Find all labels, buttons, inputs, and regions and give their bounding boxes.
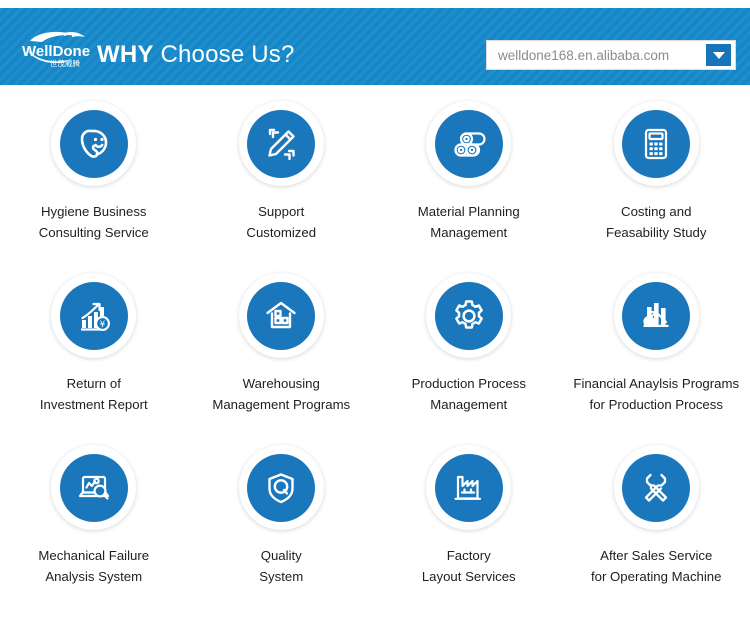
service-row: Mechanical Failure Analysis System (0, 436, 750, 608)
icon-disc (622, 454, 690, 522)
service-label: Warehousing Management Programs (210, 373, 352, 415)
icon-badge (239, 273, 324, 358)
icon-disc (622, 282, 690, 350)
icon-badge (614, 445, 699, 530)
chevron-down-icon (713, 52, 725, 59)
icon-disc (60, 110, 128, 178)
icon-disc (435, 110, 503, 178)
calculator-icon (636, 124, 676, 164)
svg-text:世茂威腾: 世茂威腾 (50, 58, 80, 68)
service-item-material-planning[interactable]: Material Planning Management (375, 92, 563, 264)
service-row: ¥ Return of Investment Report (0, 264, 750, 436)
icon-disc (435, 454, 503, 522)
icon-disc (247, 110, 315, 178)
service-label: Mechanical Failure Analysis System (36, 545, 151, 587)
gear-icon (449, 296, 489, 336)
header-banner: WellDone 世茂威腾 WHY Choose Us? welldone168… (0, 8, 750, 85)
svg-text:¥: ¥ (100, 320, 106, 330)
icon-disc (247, 454, 315, 522)
icon-badge (426, 273, 511, 358)
icon-disc (622, 110, 690, 178)
warehouse-boxes-icon (261, 296, 301, 336)
icon-badge (51, 101, 136, 186)
icon-disc (247, 282, 315, 350)
service-item-quality-system[interactable]: Quality System (188, 436, 376, 608)
service-label: Production Process Management (410, 373, 528, 415)
service-item-financial-analysis[interactable]: Financial Anaylsis Programs for Producti… (563, 264, 750, 436)
service-label: Support Customized (244, 201, 318, 243)
service-label: After Sales Service for Operating Machin… (589, 545, 723, 587)
service-label: Quality System (257, 545, 305, 587)
factory-icon (449, 468, 489, 508)
svg-text:WellDone: WellDone (22, 43, 90, 60)
chart-magnifier-icon (636, 296, 676, 336)
icon-badge (614, 101, 699, 186)
icon-disc (435, 282, 503, 350)
welldone-logo: WellDone 世茂威腾 (20, 25, 98, 71)
service-item-factory-layout[interactable]: Factory Layout Services (375, 436, 563, 608)
service-item-after-sales-service[interactable]: After Sales Service for Operating Machin… (563, 436, 750, 608)
shield-q-icon (261, 468, 301, 508)
url-field[interactable]: welldone168.en.alibaba.com (486, 40, 736, 70)
phone-smiley-icon (74, 124, 114, 164)
banner-title-bold: WHY (97, 41, 154, 68)
icon-disc-wrap (239, 445, 324, 530)
service-label: Costing and Feasability Study (604, 201, 708, 243)
banner-title: WHY Choose Us? (97, 41, 295, 69)
growth-chart-yen-icon: ¥ (74, 296, 114, 336)
service-label: Factory Layout Services (420, 545, 518, 587)
icon-disc: ¥ (60, 282, 128, 350)
service-label: Material Planning Management (416, 201, 522, 243)
icon-badge (426, 101, 511, 186)
service-item-return-of-investment[interactable]: ¥ Return of Investment Report (0, 264, 188, 436)
service-item-production-process[interactable]: Production Process Management (375, 264, 563, 436)
wrench-screwdriver-icon (636, 468, 676, 508)
service-label: Hygiene Business Consulting Service (37, 201, 151, 243)
icon-disc (60, 454, 128, 522)
laptop-search-icon (74, 468, 114, 508)
pencil-brackets-icon (261, 124, 301, 164)
icon-badge (51, 445, 136, 530)
service-item-costing-feasability[interactable]: Costing and Feasability Study (563, 92, 750, 264)
service-item-support-customized[interactable]: Support Customized (188, 92, 376, 264)
service-item-warehousing-management[interactable]: Warehousing Management Programs (188, 264, 376, 436)
service-item-mechanical-failure[interactable]: Mechanical Failure Analysis System (0, 436, 188, 608)
icon-badge (239, 101, 324, 186)
service-grid: Hygiene Business Consulting Service (0, 92, 750, 608)
url-dropdown-button[interactable] (706, 44, 731, 66)
why-choose-us-page: WellDone 世茂威腾 WHY Choose Us? welldone168… (0, 0, 750, 624)
service-label: Financial Anaylsis Programs for Producti… (571, 373, 741, 415)
icon-badge (614, 273, 699, 358)
banner-title-rest: Choose Us? (154, 41, 295, 68)
service-label: Return of Investment Report (38, 373, 150, 415)
service-item-hygiene-business-consulting[interactable]: Hygiene Business Consulting Service (0, 92, 188, 264)
url-value: welldone168.en.alibaba.com (498, 47, 669, 65)
stacked-pipes-icon (449, 124, 489, 164)
icon-badge (426, 445, 511, 530)
service-row: Hygiene Business Consulting Service (0, 92, 750, 264)
icon-badge: ¥ (51, 273, 136, 358)
